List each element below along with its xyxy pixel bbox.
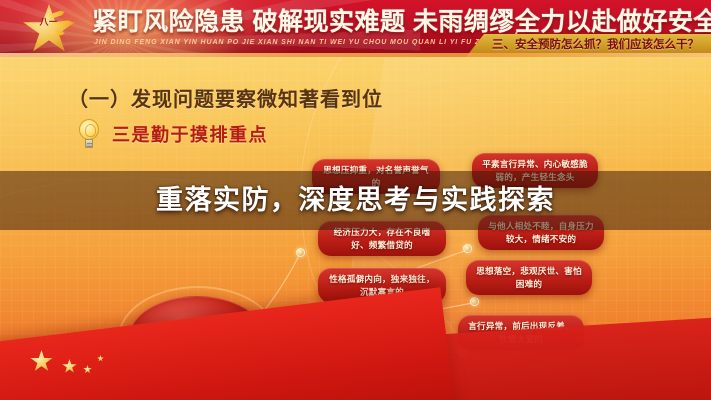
lightbulb-icon bbox=[76, 119, 102, 151]
sub-title: 三是勤于摸排重点 bbox=[112, 121, 268, 147]
node-dot-2 bbox=[463, 244, 472, 253]
section-title: （一）发现问题要察微知著看到位 bbox=[68, 83, 383, 112]
node-dot-4 bbox=[470, 297, 479, 306]
bubble-6[interactable]: 思想落空，悲观厌世、害怕困难的 bbox=[466, 260, 592, 295]
overlay-title: 重落实防，深度思考与实践探索 bbox=[0, 181, 711, 219]
arrow-chevrons-icon bbox=[48, 10, 84, 40]
node-dot-1 bbox=[296, 248, 305, 257]
header-banner: 八一 紧盯风险隐患 破解现实难题 未雨绸缪全力以赴做好安全预防工作 JIN DI… bbox=[0, 0, 711, 57]
header-title: 紧盯风险隐患 破解现实难题 未雨绸缪全力以赴做好安全预防工作 bbox=[92, 7, 707, 37]
slide-root: 八一 紧盯风险隐患 破解现实难题 未雨绸缪全力以赴做好安全预防工作 JIN DI… bbox=[0, 0, 711, 400]
